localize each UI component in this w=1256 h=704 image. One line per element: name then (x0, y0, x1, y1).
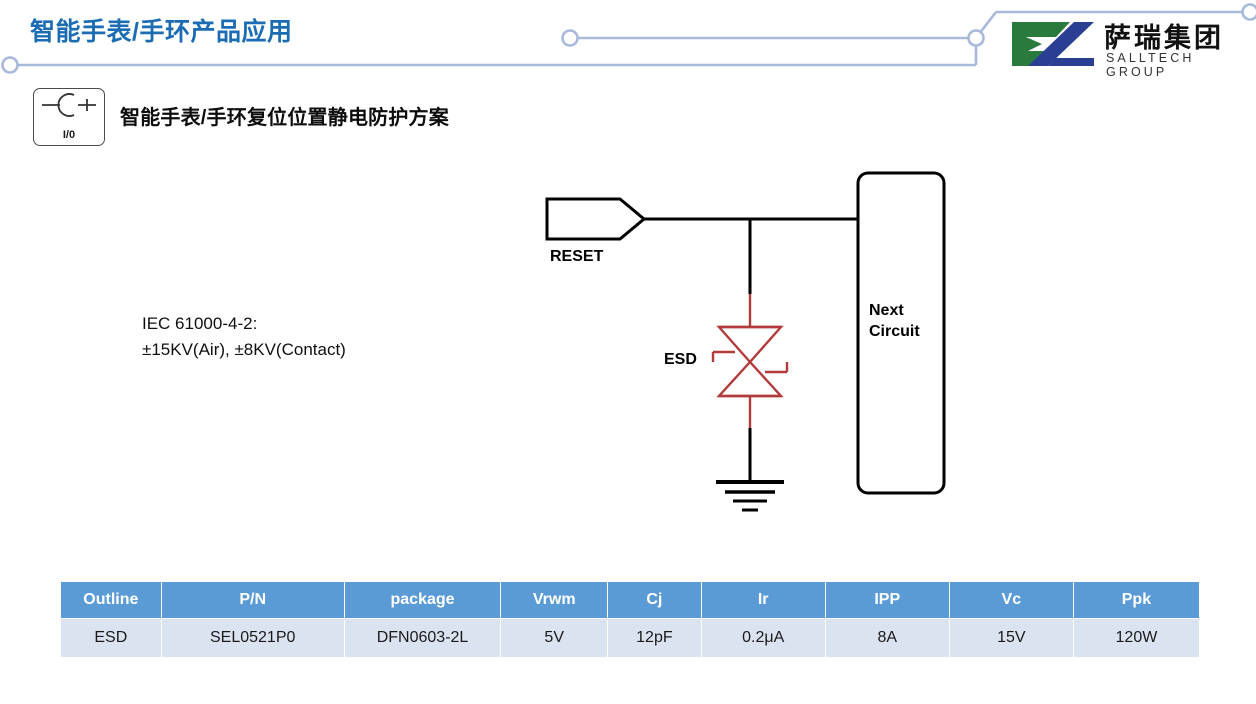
iec-line-2: ±15KV(Air), ±8KV(Contact) (142, 337, 346, 363)
table-header-cell-cj: Cj (608, 582, 702, 619)
logo-mark-icon (1008, 20, 1096, 68)
logo-name-en: SALLTECH GROUP (1106, 51, 1248, 79)
table-cell: 8A (825, 619, 949, 658)
table-cell: 15V (949, 619, 1073, 658)
io-badge-icon: I/0 (33, 88, 105, 146)
company-logo: 萨瑞集团 SALLTECH GROUP (1008, 14, 1248, 76)
table-cell: ESD (61, 619, 162, 658)
table-header-cell-package: package (344, 582, 501, 619)
next-circuit-label-line2: Circuit (869, 321, 920, 342)
table-header-cell-outline: Outline (61, 582, 162, 619)
section-subtitle: 智能手表/手环复位位置静电防护方案 (120, 101, 449, 130)
esd-tvs-symbol (713, 327, 787, 396)
table-header-cell-ir: Ir (701, 582, 825, 619)
page-title: 智能手表/手环产品应用 (30, 12, 292, 48)
io-symbol-icon (34, 89, 104, 129)
next-circuit-label: Next Circuit (869, 300, 920, 342)
table-cell: DFN0603-2L (344, 619, 501, 658)
iec-standard-note: IEC 61000-4-2: ±15KV(Air), ±8KV(Contact) (142, 311, 346, 363)
ground-symbol-icon (716, 482, 784, 510)
reset-connector-shape (547, 199, 644, 239)
reset-label: RESET (550, 248, 603, 266)
table-cell: 5V (501, 619, 608, 658)
table-header-cell-ipp: IPP (825, 582, 949, 619)
io-badge-label: I/0 (34, 129, 104, 141)
table-header-cell-vc: Vc (949, 582, 1073, 619)
esd-label: ESD (664, 351, 697, 369)
table-header-cell-vrwm: Vrwm (501, 582, 608, 619)
table-header-cell-ppk: Ppk (1073, 582, 1199, 619)
circuit-diagram (520, 160, 990, 530)
deco-node-left (3, 58, 18, 73)
iec-line-1: IEC 61000-4-2: (142, 311, 346, 337)
table-cell: 0.2μA (701, 619, 825, 658)
table-header-cell-p-n: P/N (161, 582, 344, 619)
table-cell: 12pF (608, 619, 702, 658)
table-header-row: OutlineP/NpackageVrwmCjIrIPPVcPpk (61, 582, 1200, 619)
spec-table: OutlineP/NpackageVrwmCjIrIPPVcPpk ESDSEL… (60, 581, 1200, 658)
next-circuit-label-line1: Next (869, 300, 920, 321)
deco-node-mid (563, 31, 578, 46)
deco-node-junc (969, 31, 984, 46)
table-cell: 120W (1073, 619, 1199, 658)
table-cell: SEL0521P0 (161, 619, 344, 658)
table-row: ESDSEL0521P0DFN0603-2L5V12pF0.2μA8A15V12… (61, 619, 1200, 658)
logo-name-cn: 萨瑞集团 (1104, 16, 1224, 55)
